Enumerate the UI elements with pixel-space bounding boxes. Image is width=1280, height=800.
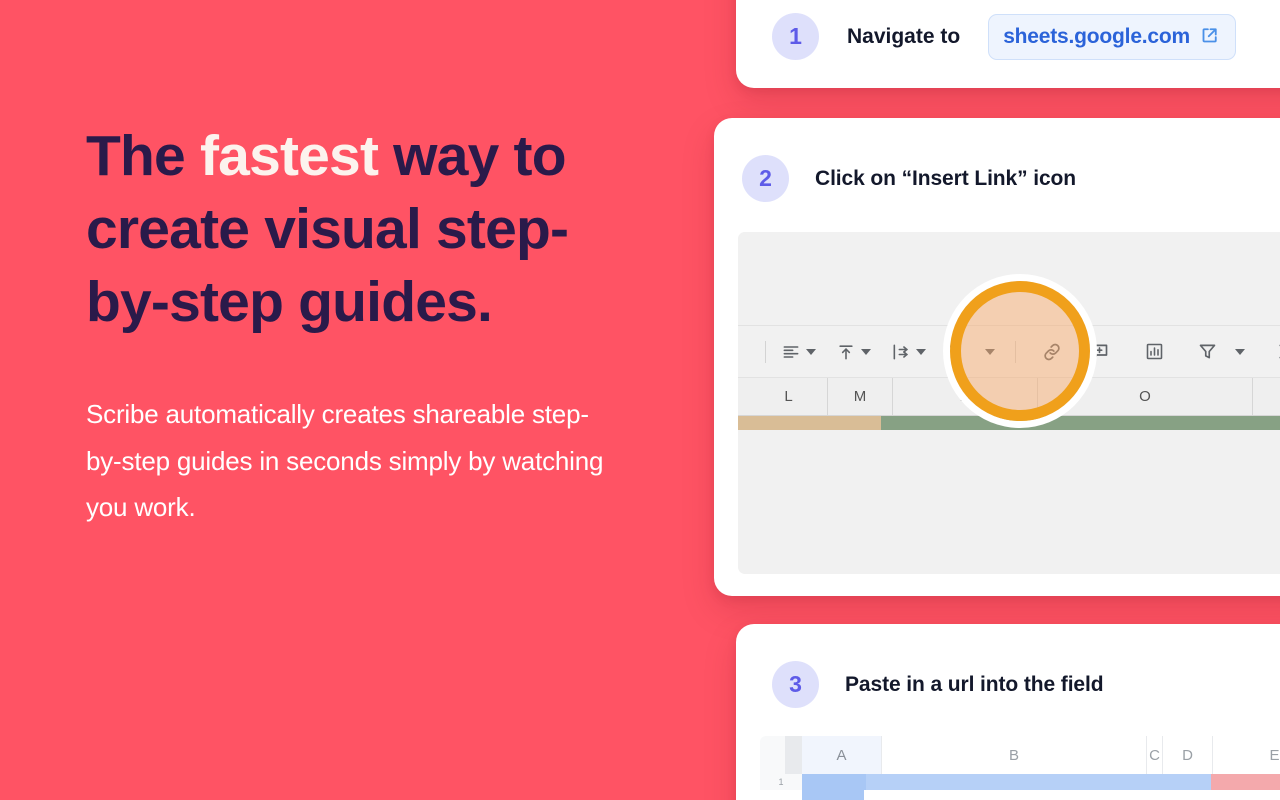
column-header-M[interactable]: M — [828, 378, 893, 415]
chevron-down-icon[interactable] — [1235, 349, 1245, 355]
step-3-label: Paste in a url into the field — [845, 673, 1103, 697]
filter-icon[interactable] — [1193, 339, 1249, 364]
cell-cursor — [802, 790, 864, 800]
step-1-label: Navigate to — [847, 25, 960, 49]
vertical-align-icon[interactable] — [832, 340, 875, 364]
spreadsheet-upper-chrome — [738, 232, 1280, 326]
column-header-A[interactable]: A — [802, 736, 882, 774]
col-gutter — [738, 378, 750, 415]
external-link-icon — [1200, 24, 1221, 50]
column-header-O[interactable]: O — [1038, 378, 1253, 415]
red-fill-band — [1211, 774, 1280, 790]
chevron-down-icon[interactable] — [985, 349, 995, 355]
step-1-row: 1 Navigate to sheets.google.com — [772, 13, 1236, 60]
tan-band — [738, 416, 881, 430]
functions-sigma-icon[interactable] — [1271, 339, 1280, 364]
spreadsheet-toolbar — [738, 326, 1280, 378]
insert-comment-icon[interactable] — [1085, 339, 1114, 364]
step-2-label: Click on “Insert Link” icon — [815, 167, 1076, 191]
row-header-1[interactable]: 1 — [760, 774, 802, 790]
toolbar-divider — [765, 341, 766, 363]
spreadsheet3-column-headers: A B C D E — [760, 736, 1280, 774]
step-3-row: 3 Paste in a url into the field — [772, 661, 1103, 708]
spreadsheet-color-bands — [738, 416, 1280, 430]
step-2-row: 2 Click on “Insert Link” icon — [742, 155, 1076, 202]
column-header-D[interactable]: D — [1163, 736, 1213, 774]
text-rotation-icon[interactable] — [942, 340, 999, 364]
column-header-C[interactable]: C — [1147, 736, 1163, 774]
column-header-P[interactable]: P — [1253, 378, 1280, 415]
text-wrap-icon[interactable] — [887, 340, 930, 364]
spreadsheet3-cell-area — [760, 790, 1280, 800]
spreadsheet-column-headers: L M N O P — [738, 378, 1280, 416]
step-card-2[interactable]: 2 Click on “Insert Link” icon — [714, 118, 1280, 596]
insert-chart-icon[interactable] — [1140, 339, 1169, 364]
step-1-number-badge: 1 — [772, 13, 819, 60]
column-header-N[interactable]: N — [893, 378, 1038, 415]
column-resize-handle[interactable] — [786, 736, 802, 774]
spreadsheet-cell-area — [738, 430, 1280, 534]
horizontal-align-icon[interactable] — [777, 340, 820, 364]
column-header-B[interactable]: B — [882, 736, 1147, 774]
step-2-number-badge: 2 — [742, 155, 789, 202]
select-all-corner[interactable] — [760, 736, 786, 774]
spreadsheet3-selection-band: 1 — [760, 774, 1280, 790]
scribe-marketing-page: The fastest way to create visual step-by… — [0, 0, 1280, 800]
toolbar-divider — [1015, 341, 1016, 363]
sheets-link-badge[interactable]: sheets.google.com — [988, 14, 1236, 60]
sheets-link-text: sheets.google.com — [1003, 25, 1190, 49]
step-3-spreadsheet-screenshot: A B C D E 1 — [760, 736, 1280, 800]
column-header-E[interactable]: E — [1213, 736, 1280, 774]
step-card-3[interactable]: 3 Paste in a url into the field A B C D … — [736, 624, 1280, 800]
chevron-down-icon[interactable] — [861, 349, 871, 355]
step-3-number-badge: 3 — [772, 661, 819, 708]
selected-cell-A1[interactable] — [802, 774, 866, 790]
chevron-down-icon[interactable] — [806, 349, 816, 355]
green-band — [881, 416, 1280, 430]
insert-link-icon[interactable] — [1037, 339, 1067, 365]
step-2-spreadsheet-screenshot: L M N O P — [738, 232, 1280, 574]
blue-fill-band — [866, 774, 1211, 790]
column-header-L[interactable]: L — [750, 378, 828, 415]
step-cards-stack: 1 Navigate to sheets.google.com 2 — [0, 0, 1280, 800]
step-card-1[interactable]: 1 Navigate to sheets.google.com — [736, 0, 1280, 88]
chevron-down-icon[interactable] — [916, 349, 926, 355]
